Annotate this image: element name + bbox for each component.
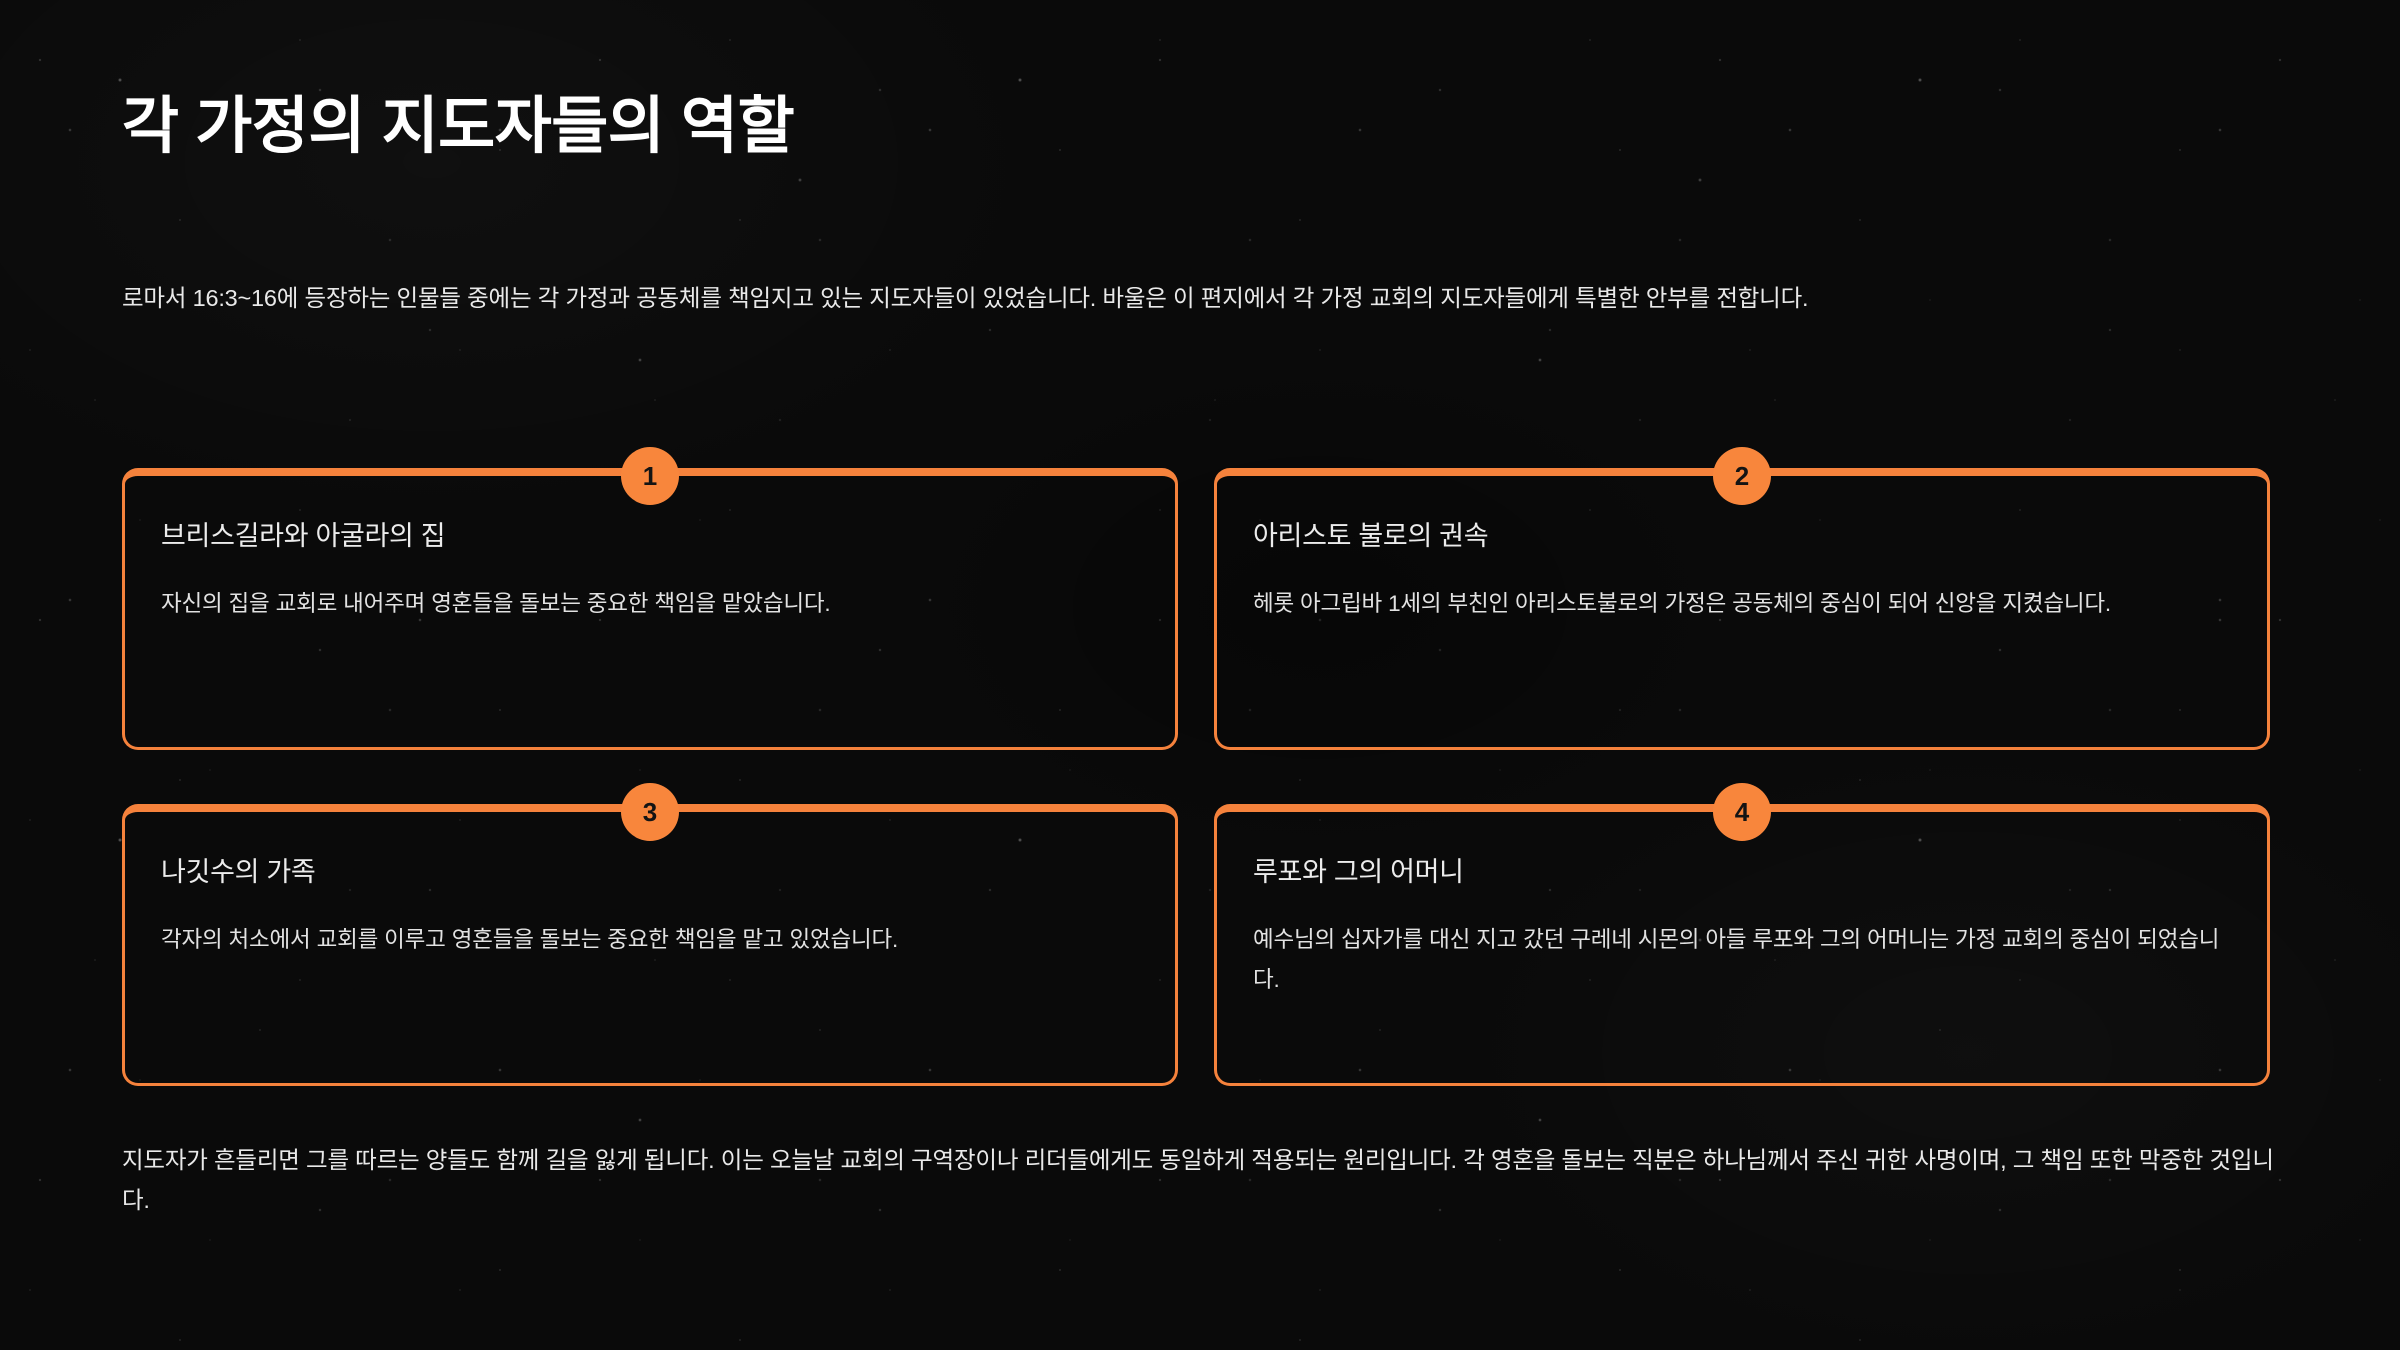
card-body: 예수님의 십자가를 대신 지고 갔던 구레네 시몬의 아들 루포와 그의 어머니… [1253, 920, 2231, 1000]
intro-paragraph: 로마서 16:3~16에 등장하는 인물들 중에는 각 가정과 공동체를 책임지… [122, 278, 2282, 318]
card-body: 자신의 집을 교회로 내어주며 영혼들을 돌보는 중요한 책임을 맡았습니다. [161, 584, 1139, 624]
leader-card-1[interactable]: 1 브리스길라와 아굴라의 집 자신의 집을 교회로 내어주며 영혼들을 돌보는… [122, 468, 1178, 750]
card-number-badge: 3 [621, 783, 679, 841]
page-title: 각 가정의 지도자들의 역할 [122, 96, 794, 158]
card-title: 루포와 그의 어머니 [1253, 856, 2231, 888]
leader-card-3[interactable]: 3 나깃수의 가족 각자의 처소에서 교회를 이루고 영혼들을 돌보는 중요한 … [122, 804, 1178, 1086]
card-body: 각자의 처소에서 교회를 이루고 영혼들을 돌보는 중요한 책임을 맡고 있었습… [161, 920, 1139, 960]
slide-content: 각 가정의 지도자들의 역할 로마서 16:3~16에 등장하는 인물들 중에는… [0, 0, 2400, 1350]
leader-card-2[interactable]: 2 아리스토 불로의 권속 헤롯 아그립바 1세의 부친인 아리스토불로의 가정… [1214, 468, 2270, 750]
outro-paragraph: 지도자가 흔들리면 그를 따르는 양들도 함께 길을 잃게 됩니다. 이는 오늘… [122, 1140, 2282, 1221]
card-grid: 1 브리스길라와 아굴라의 집 자신의 집을 교회로 내어주며 영혼들을 돌보는… [122, 468, 2270, 1086]
card-number-badge: 2 [1713, 447, 1771, 505]
presentation-slide: 각 가정의 지도자들의 역할 로마서 16:3~16에 등장하는 인물들 중에는… [0, 0, 2400, 1350]
card-title: 나깃수의 가족 [161, 856, 1139, 888]
card-number-badge: 1 [621, 447, 679, 505]
card-title: 브리스길라와 아굴라의 집 [161, 520, 1139, 552]
card-body: 헤롯 아그립바 1세의 부친인 아리스토불로의 가정은 공동체의 중심이 되어 … [1253, 584, 2231, 624]
card-number-badge: 4 [1713, 783, 1771, 841]
leader-card-4[interactable]: 4 루포와 그의 어머니 예수님의 십자가를 대신 지고 갔던 구레네 시몬의 … [1214, 804, 2270, 1086]
card-title: 아리스토 불로의 권속 [1253, 520, 2231, 552]
